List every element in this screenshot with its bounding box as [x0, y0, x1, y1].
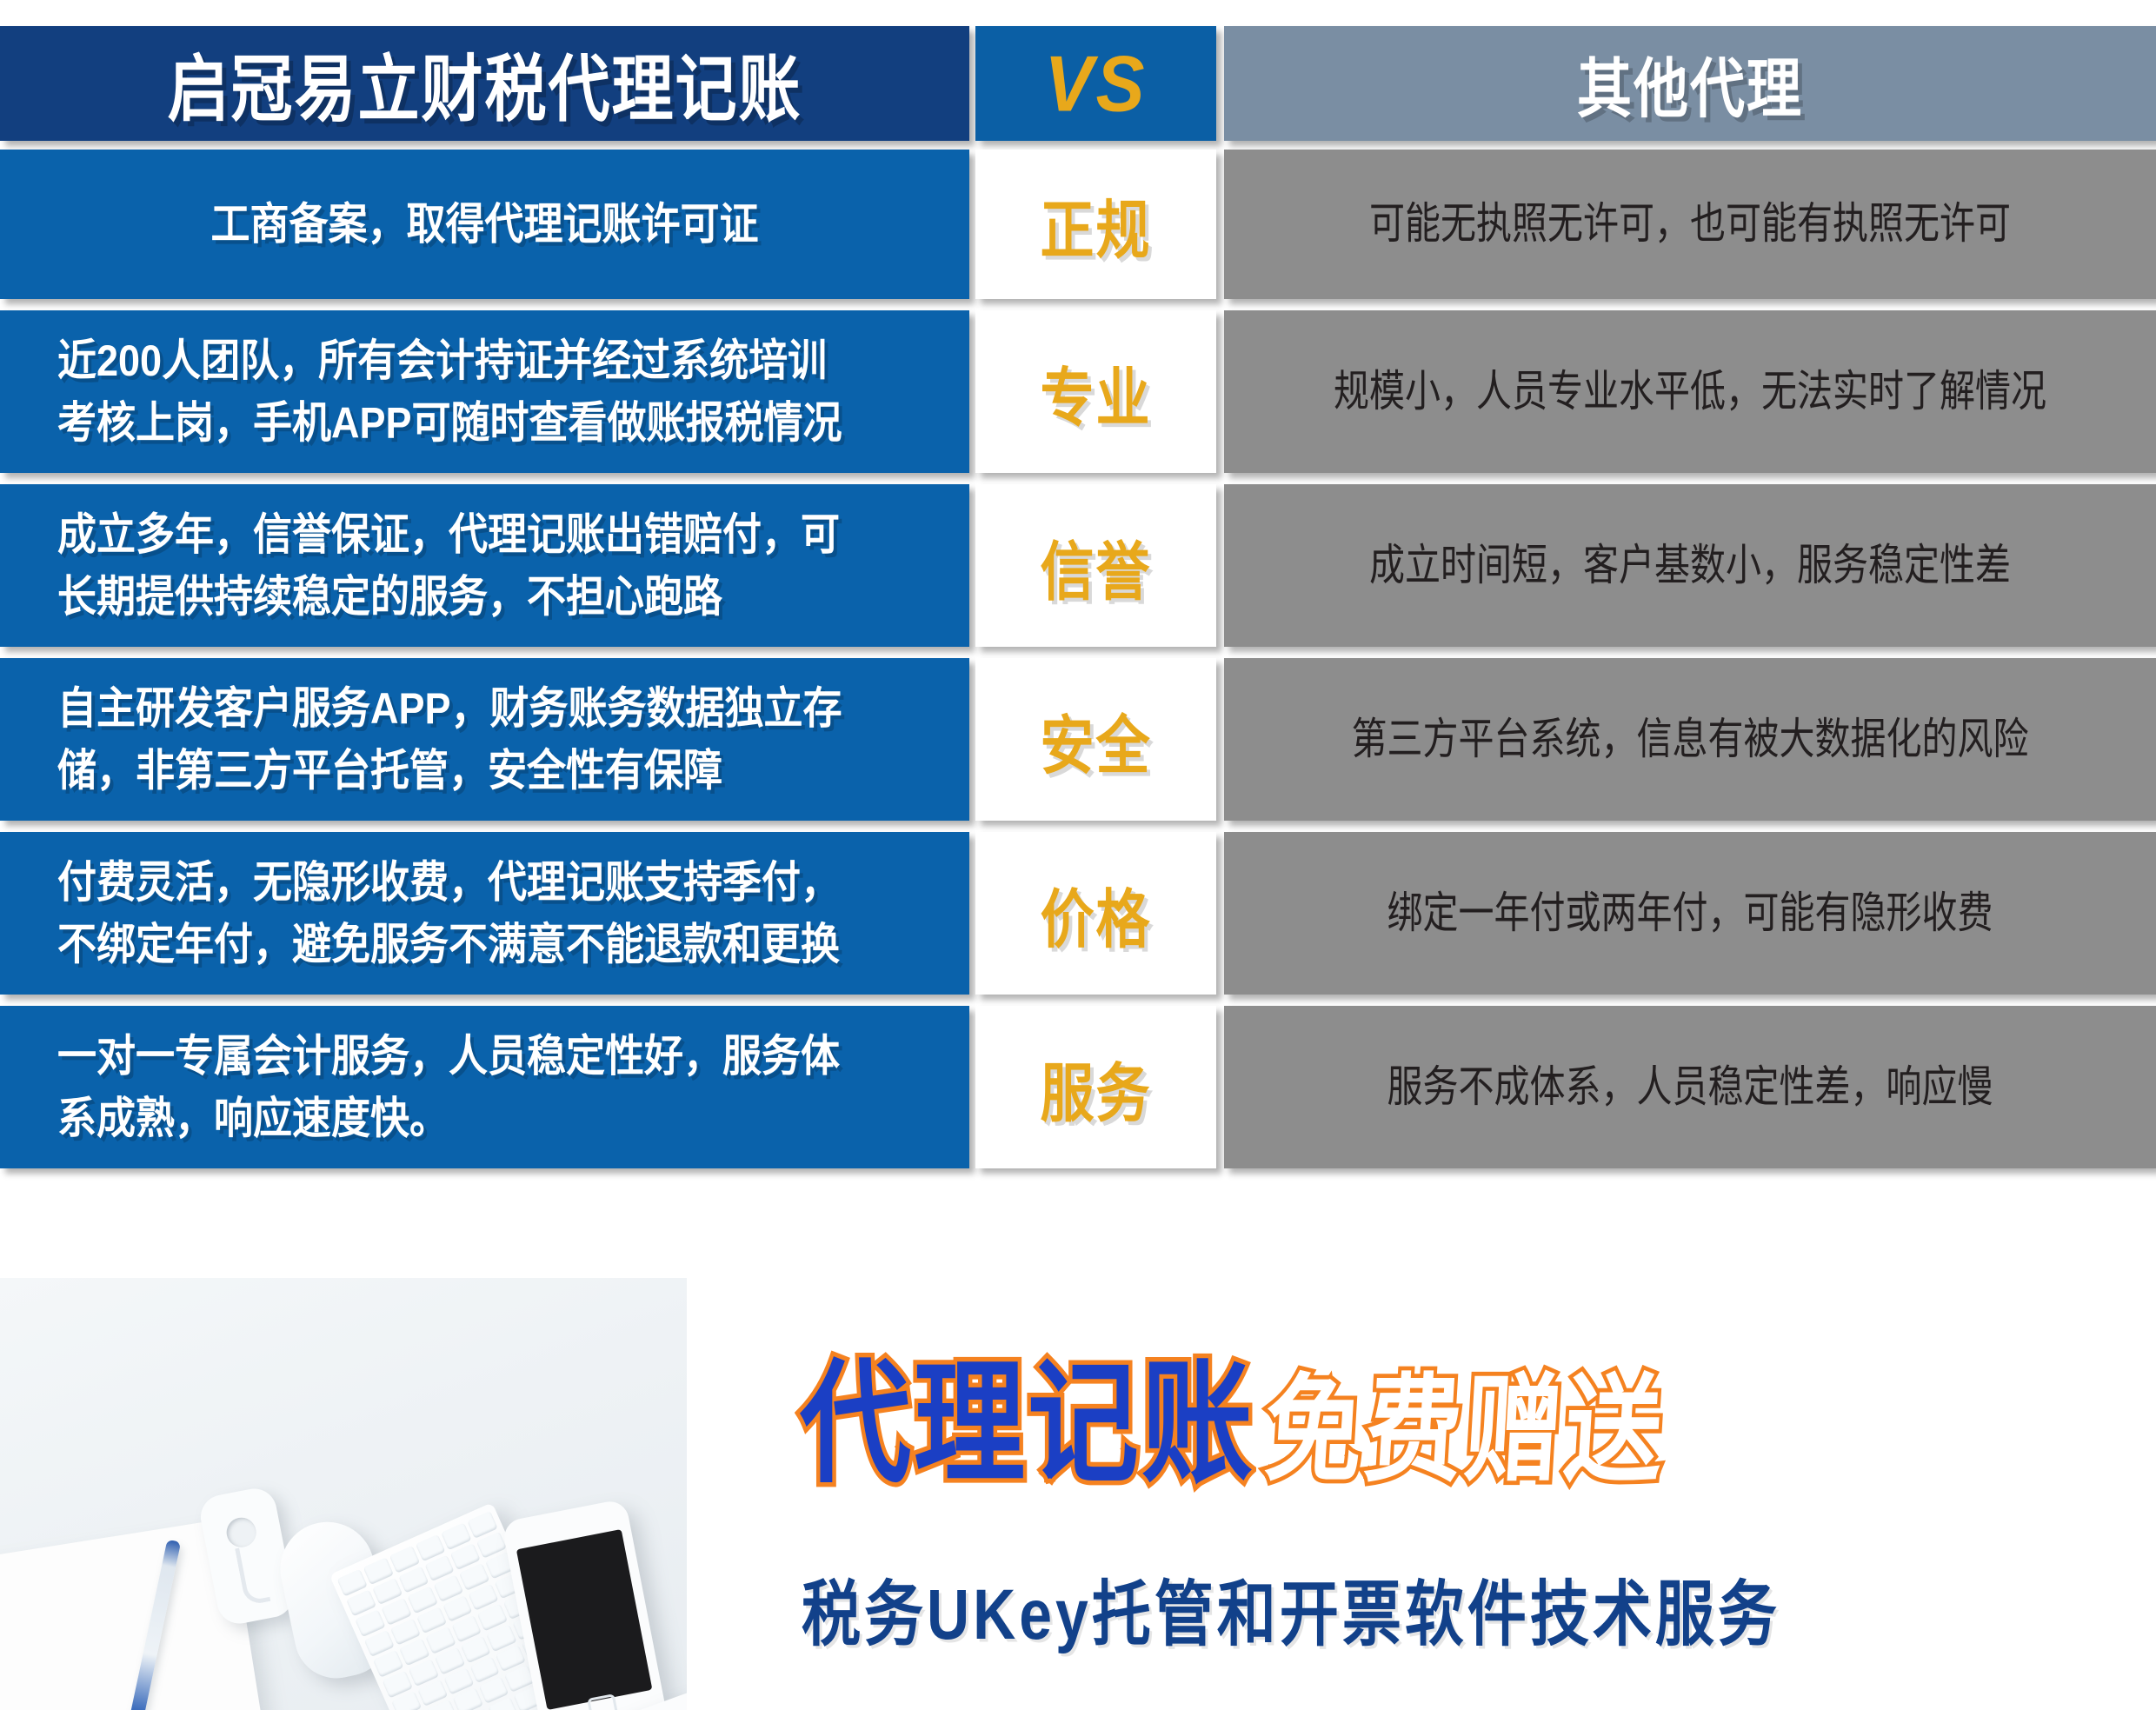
theirs-cell: 可能无执照无许可，也可能有执照无许可: [1224, 150, 2156, 299]
column-gap: [1216, 832, 1224, 995]
column-gap: [1216, 26, 1224, 141]
table-row: 自主研发客户服务APP，财务账务数据独立存 储，非第三方平台托管，安全性有保障 …: [0, 658, 2156, 821]
promo-subline: 税务UKey托管和开票软件技术服务: [802, 1556, 1780, 1660]
ours-text-line: 自主研发客户服务APP，财务账务数据独立存: [57, 683, 842, 733]
promo-band: 代理记账 免费赠送 税务UKey托管和开票软件技术服务: [0, 1278, 2156, 1710]
ours-text: 成立多年，信誉保证，代理记账出错赔付，可 长期提供持续稳定的服务，不担心跑路: [57, 503, 840, 628]
category-cell: 安全: [975, 658, 1216, 821]
ours-text-line: 系成熟，响应速度快。: [57, 1093, 449, 1142]
column-gap: [969, 832, 975, 995]
category-cell: 服务: [975, 1006, 1216, 1168]
promo-text-block: 代理记账 免费赠送 税务UKey托管和开票软件技术服务: [800, 1278, 2017, 1710]
category-cell: 信誉: [975, 484, 1216, 647]
category-cell: 正规: [975, 150, 1216, 299]
promo-headline: 代理记账 免费赠送: [800, 1347, 1660, 1508]
ours-text: 一对一专属会计服务，人员稳定性好，服务体 系成熟，响应速度快。: [57, 1025, 840, 1149]
ours-text-line: 储，非第三方平台托管，安全性有保障: [57, 745, 722, 795]
comparison-table: 启冠易立财税代理记账 VS 其他代理 工商备案，取得代理记账许可证 正规: [0, 0, 2156, 1278]
table-row: 工商备案，取得代理记账许可证 正规 可能无执照无许可，也可能有执照无许可: [0, 150, 2156, 299]
category-cell: 价格: [975, 832, 1216, 995]
category-label: 信誉: [1040, 519, 1151, 611]
ours-cell: 成立多年，信誉保证，代理记账出错赔付，可 长期提供持续稳定的服务，不担心跑路: [0, 484, 969, 647]
promo-headline-secondary: 免费赠送: [1261, 1336, 1670, 1505]
category-cell: 专业: [975, 310, 1216, 473]
category-label: 服务: [1040, 1041, 1151, 1133]
ours-cell: 近200人团队，所有会计持证并经过系统培训 考核上岗，手机APP可随时查看做账报…: [0, 310, 969, 473]
category-label: 专业: [1040, 345, 1151, 437]
ours-text-line: 付费灵活，无隐形收费，代理记账支持季付，: [57, 857, 840, 907]
ours-cell: 付费灵活，无隐形收费，代理记账支持季付， 不绑定年付，避免服务不满意不能退款和更…: [0, 832, 969, 995]
desk-items-photo: [0, 1278, 687, 1710]
ours-text: 工商备案，取得代理记账许可证: [210, 193, 758, 256]
category-label: 安全: [1040, 693, 1151, 785]
column-gap: [1216, 310, 1224, 473]
theirs-cell: 服务不成体系，人员稳定性差，响应慢: [1224, 1006, 2156, 1168]
ours-cell: 一对一专属会计服务，人员稳定性好，服务体 系成熟，响应速度快。: [0, 1006, 969, 1168]
column-gap: [969, 658, 975, 821]
theirs-text: 第三方平台系统，信息有被大数据化的风险: [1352, 709, 2029, 769]
column-gap: [1216, 658, 1224, 821]
ours-text-line: 近200人团队，所有会计持证并经过系统培训: [57, 336, 827, 385]
column-gap: [969, 484, 975, 647]
ours-text: 自主研发客户服务APP，财务账务数据独立存 储，非第三方平台托管，安全性有保障: [57, 677, 842, 802]
theirs-text: 规模小，人员专业水平低，无法实时了解情况: [1334, 361, 2046, 422]
ours-text-line: 考核上岗，手机APP可随时查看做账报税情况: [57, 397, 842, 447]
ours-cell: 自主研发客户服务APP，财务账务数据独立存 储，非第三方平台托管，安全性有保障: [0, 658, 969, 821]
ours-text-line: 成立多年，信誉保证，代理记账出错赔付，可: [57, 509, 840, 559]
theirs-cell: 第三方平台系统，信息有被大数据化的风险: [1224, 658, 2156, 821]
theirs-text: 绑定一年付或两年付，可能有隐形收费: [1387, 882, 1993, 943]
ours-text-line: 一对一专属会计服务，人员稳定性好，服务体: [57, 1031, 840, 1081]
ours-brand-title: 启冠易立财税代理记账: [167, 31, 802, 136]
ours-cell: 工商备案，取得代理记账许可证: [0, 150, 969, 299]
theirs-cell: 成立时间短，客户基数小，服务稳定性差: [1224, 484, 2156, 647]
theirs-cell: 绑定一年付或两年付，可能有隐形收费: [1224, 832, 2156, 995]
column-gap: [969, 26, 975, 141]
table-header-row: 启冠易立财税代理记账 VS 其他代理: [0, 26, 2156, 141]
header-cell-vs: VS: [975, 26, 1216, 141]
ours-text-line: 长期提供持续稳定的服务，不担心跑路: [57, 571, 722, 621]
category-label: 正规: [1040, 178, 1151, 270]
theirs-text: 成立时间短，客户基数小，服务稳定性差: [1369, 535, 2011, 596]
category-label: 价格: [1040, 867, 1151, 959]
ours-text-line: 不绑定年付，避免服务不满意不能退款和更换: [57, 919, 840, 968]
column-gap: [1216, 1006, 1224, 1168]
theirs-text: 可能无执照无许可，也可能有执照无许可: [1369, 194, 2011, 255]
theirs-cell: 规模小，人员专业水平低，无法实时了解情况: [1224, 310, 2156, 473]
promo-headline-primary: 代理记账: [800, 1315, 1255, 1508]
ours-text: 近200人团队，所有会计持证并经过系统培训 考核上岗，手机APP可随时查看做账报…: [57, 329, 842, 454]
table-row: 近200人团队，所有会计持证并经过系统培训 考核上岗，手机APP可随时查看做账报…: [0, 310, 2156, 473]
header-cell-ours: 启冠易立财税代理记账: [0, 26, 969, 141]
vs-label: VS: [1044, 38, 1147, 130]
column-gap: [1216, 150, 1224, 299]
column-gap: [969, 1006, 975, 1168]
others-title: 其他代理: [1577, 37, 1803, 130]
header-cell-theirs: 其他代理: [1224, 26, 2156, 141]
column-gap: [969, 150, 975, 299]
table-row: 一对一专属会计服务，人员稳定性好，服务体 系成熟，响应速度快。 服务 服务不成体…: [0, 1006, 2156, 1168]
column-gap: [1216, 484, 1224, 647]
table-row: 成立多年，信誉保证，代理记账出错赔付，可 长期提供持续稳定的服务，不担心跑路 信…: [0, 484, 2156, 647]
ours-text: 付费灵活，无隐形收费，代理记账支持季付， 不绑定年付，避免服务不满意不能退款和更…: [57, 851, 840, 975]
table-row: 付费灵活，无隐形收费，代理记账支持季付， 不绑定年付，避免服务不满意不能退款和更…: [0, 832, 2156, 995]
theirs-text: 服务不成体系，人员稳定性差，响应慢: [1387, 1056, 1993, 1117]
column-gap: [969, 310, 975, 473]
